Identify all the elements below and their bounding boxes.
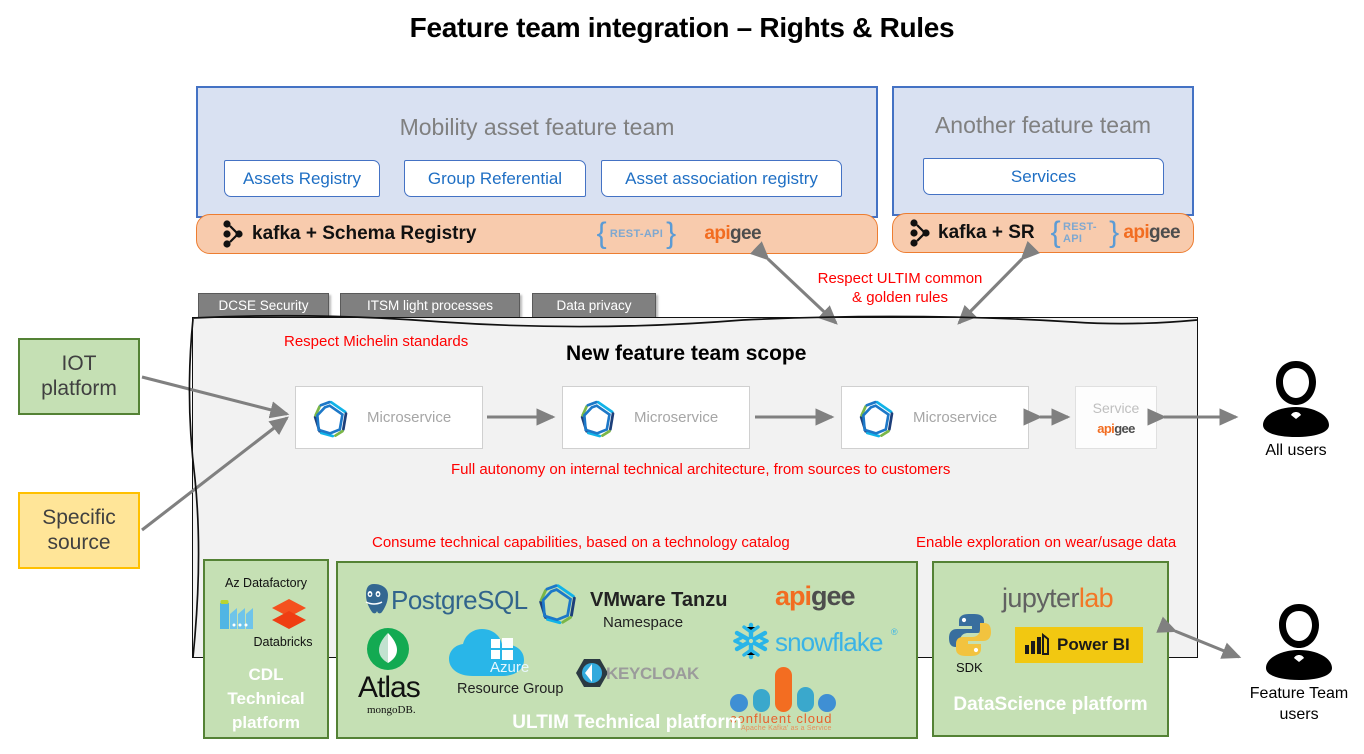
kafka-strip-label: kafka + SR bbox=[938, 222, 1035, 244]
vmware-tanzu-icon bbox=[855, 396, 899, 440]
python-icon bbox=[946, 611, 994, 659]
chip-label: Assets Registry bbox=[243, 169, 361, 189]
page-title: Feature team integration – Rights & Rule… bbox=[0, 12, 1364, 44]
brace-right-icon: } bbox=[1109, 221, 1119, 245]
feature-team-title: Mobility asset feature team bbox=[198, 114, 876, 141]
feature-team-chip-asset-association-registry[interactable]: Asset association registry bbox=[601, 160, 842, 197]
chip-label: Asset association registry bbox=[625, 169, 818, 189]
vmware-tanzu-icon bbox=[534, 579, 582, 627]
tanzu-namespace-sublabel: Namespace bbox=[603, 614, 683, 631]
brace-left-icon: { bbox=[1051, 221, 1061, 245]
platform-datascience[interactable]: jupyterlab SDK Power BI DataScience plat… bbox=[932, 561, 1169, 737]
annotation-full-autonomy: Full autonomy on internal technical arch… bbox=[451, 461, 950, 480]
scope-title: New feature team scope bbox=[566, 342, 806, 366]
chip-label: Group Referential bbox=[428, 169, 562, 189]
platform-cdl-technical[interactable]: Az Datafactory Databricks CDL Technical … bbox=[203, 559, 329, 739]
microservice-label: Microservice bbox=[913, 409, 997, 426]
user-group-label: All users bbox=[1237, 441, 1355, 462]
power-bi-label: Power BI bbox=[1057, 635, 1130, 655]
badge-data-privacy[interactable]: Data privacy bbox=[532, 293, 656, 318]
snowflake-trademark-icon: ® bbox=[891, 627, 898, 637]
azure-datafactory-icon bbox=[217, 595, 257, 633]
snowflake-label: snowflake bbox=[775, 627, 883, 658]
apigee-logo: apigee bbox=[1097, 421, 1135, 436]
postgresql-label: PostgreSQL bbox=[391, 585, 528, 616]
feature-team-chip-services[interactable]: Services bbox=[923, 158, 1164, 195]
badge-itsm-light-processes[interactable]: ITSM light processes bbox=[340, 293, 520, 318]
az-datafactory-caption: Az Datafactory bbox=[205, 576, 327, 590]
atlas-label: Atlas bbox=[358, 671, 420, 705]
platform-name: DataScience platform bbox=[934, 694, 1167, 716]
postgresql-icon bbox=[357, 582, 391, 616]
mongodb-atlas-icon bbox=[365, 626, 411, 672]
brace-left-icon: { bbox=[597, 222, 607, 246]
feature-team-chip-assets-registry[interactable]: Assets Registry bbox=[224, 160, 380, 197]
apigee-logo: apigee bbox=[1123, 222, 1180, 244]
service-card[interactable]: Service apigee bbox=[1075, 386, 1157, 449]
snowflake-icon bbox=[730, 620, 772, 662]
source-box-iot-platform[interactable]: IOT platform bbox=[18, 338, 140, 415]
svg-text:Azure: Azure bbox=[490, 659, 529, 676]
rest-api-badge: { REST-API } bbox=[597, 222, 677, 246]
feature-team-card-another[interactable]: Another feature team bbox=[892, 86, 1194, 216]
badge-dcse-security[interactable]: DCSE Security bbox=[198, 293, 329, 318]
rest-api-badge: { REST-API } bbox=[1051, 221, 1120, 245]
user-icon bbox=[1256, 357, 1336, 439]
azure-cloud-icon: Azure bbox=[443, 620, 563, 686]
annotation-ultim-rules: Respect ULTIM common & golden rules bbox=[815, 270, 985, 308]
jupyterlab-logo: jupyterlab bbox=[1002, 583, 1113, 614]
service-label: Service bbox=[1093, 400, 1140, 416]
annotation-michelin-standards: Respect Michelin standards bbox=[284, 333, 468, 352]
user-group-all-users: All users bbox=[1237, 357, 1355, 462]
microservice-card-2[interactable]: Microservice bbox=[562, 386, 750, 449]
confluent-cloud-icon bbox=[728, 661, 840, 717]
vmware-tanzu-icon bbox=[309, 396, 353, 440]
rest-api-label: REST-API bbox=[1061, 221, 1109, 245]
kafka-icon bbox=[219, 219, 245, 249]
apigee-logo: apigee bbox=[775, 581, 855, 612]
user-icon bbox=[1259, 600, 1339, 682]
databricks-icon bbox=[269, 597, 309, 633]
brace-right-icon: } bbox=[666, 222, 676, 246]
vmware-tanzu-icon bbox=[576, 396, 620, 440]
platform-ultim-technical[interactable]: PostgreSQL Atlas mongoDB. Azure Resource… bbox=[336, 561, 918, 739]
feature-team-card-mobility[interactable]: Mobility asset feature team bbox=[196, 86, 878, 218]
chip-label: Services bbox=[1011, 167, 1076, 187]
kafka-icon bbox=[906, 218, 932, 248]
microservice-label: Microservice bbox=[367, 409, 451, 426]
keycloak-icon bbox=[575, 656, 609, 690]
feature-team-title: Another feature team bbox=[894, 112, 1192, 139]
azure-resource-group-sublabel: Resource Group bbox=[457, 681, 563, 697]
annotation-consume-capabilities: Consume technical capabilities, based on… bbox=[372, 534, 790, 553]
microservice-card-3[interactable]: Microservice bbox=[841, 386, 1029, 449]
kafka-sr-strip[interactable]: kafka + SR { REST-API } apigee bbox=[892, 213, 1194, 253]
power-bi-badge[interactable]: Power BI bbox=[1015, 627, 1143, 663]
python-sdk-caption: SDK bbox=[956, 660, 983, 675]
apigee-logo: apigee bbox=[704, 223, 761, 245]
databricks-caption: Databricks bbox=[235, 635, 331, 649]
annotation-enable-exploration: Enable exploration on wear/usage data bbox=[916, 534, 1176, 553]
vmware-tanzu-label: VMware Tanzu bbox=[590, 589, 727, 612]
kafka-schema-registry-strip[interactable]: kafka + Schema Registry { REST-API } api… bbox=[196, 214, 878, 254]
microservice-card-1[interactable]: Microservice bbox=[295, 386, 483, 449]
rest-api-label: REST-API bbox=[607, 228, 666, 240]
power-bi-icon bbox=[1024, 633, 1050, 657]
platform-name: ULTIM Technical platform bbox=[338, 712, 916, 734]
source-box-specific-source[interactable]: Specific source bbox=[18, 492, 140, 569]
feature-team-chip-group-referential[interactable]: Group Referential bbox=[404, 160, 586, 197]
user-group-feature-team-users: Feature Team users bbox=[1237, 600, 1361, 726]
keycloak-label: KEYCLOAK bbox=[606, 664, 699, 684]
user-group-label: Feature Team users bbox=[1237, 684, 1361, 726]
microservice-label: Microservice bbox=[634, 409, 718, 426]
platform-name: CDL Technical platform bbox=[205, 663, 327, 735]
kafka-strip-label: kafka + Schema Registry bbox=[252, 223, 476, 245]
